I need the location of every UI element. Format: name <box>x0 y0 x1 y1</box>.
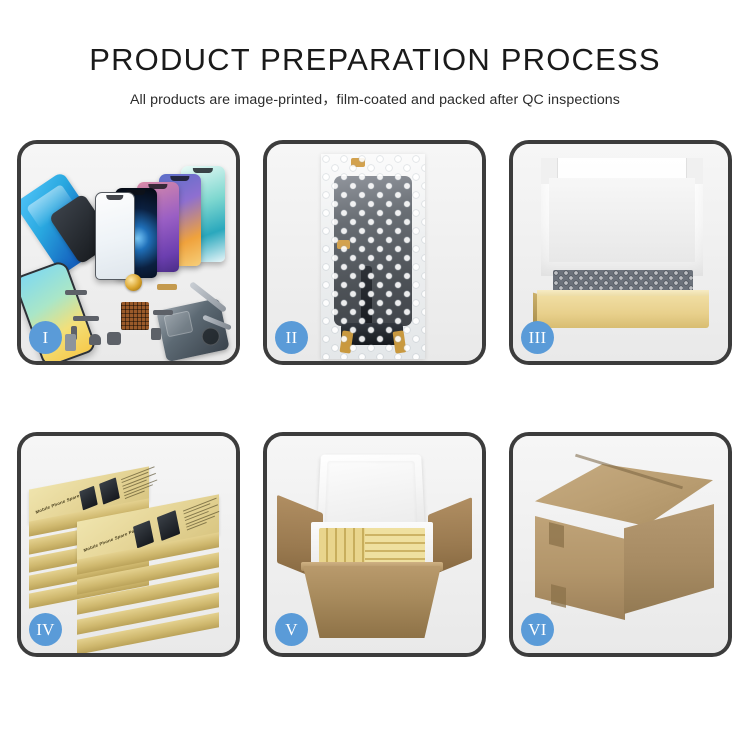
box-phone-image <box>133 520 154 548</box>
step-badge-6: VI <box>521 613 554 646</box>
packed-boxes-stacked-icon <box>365 528 425 566</box>
bubble-texture-icon <box>321 154 425 359</box>
sim-tray-icon <box>65 334 76 351</box>
step-badge-4: IV <box>29 613 62 646</box>
process-step-2: II <box>263 140 486 365</box>
camera-module-icon <box>107 332 121 345</box>
notch-icon <box>170 176 189 181</box>
camera-lens-icon <box>125 274 142 291</box>
step-badge-5: V <box>275 613 308 646</box>
process-step-1: I <box>17 140 240 365</box>
step-badge-2: II <box>275 321 308 354</box>
foam-lid-icon <box>317 455 425 533</box>
process-step-6: VI <box>509 432 732 657</box>
box-spec-lines <box>121 466 159 502</box>
connector-icon <box>65 290 87 295</box>
screen-protector-icon <box>95 192 135 280</box>
process-step-4: Mobile Phone Spare Parts <box>17 432 240 657</box>
notch-icon <box>106 195 123 200</box>
circuit-chip-icon <box>121 302 149 330</box>
box-phone-image <box>157 510 180 541</box>
process-step-grid: I II <box>17 140 733 657</box>
box-spec-lines <box>183 498 221 534</box>
box-phone-image <box>99 477 120 504</box>
phone-fan-group <box>95 166 235 281</box>
step-badge-1: I <box>29 321 62 354</box>
header: PRODUCT PREPARATION PROCESS All products… <box>0 0 750 109</box>
carton-tape-icon <box>551 584 566 608</box>
box-front-icon <box>537 296 709 328</box>
carton-tape-icon <box>549 522 564 548</box>
box-phone-image <box>79 486 98 511</box>
box-inner-liner-icon <box>549 178 695 262</box>
vibrator-icon <box>151 328 161 340</box>
bubble-wrap-bag-icon <box>321 154 425 359</box>
antenna-cable-icon <box>153 310 173 315</box>
page-subtitle: All products are image-printed，film-coat… <box>0 89 750 109</box>
notch-icon <box>193 168 213 173</box>
product-preparation-infographic: PRODUCT PREPARATION PROCESS All products… <box>0 0 750 750</box>
flex-cable-icon <box>157 284 177 290</box>
page-title: PRODUCT PREPARATION PROCESS <box>0 42 750 78</box>
step-badge-3: III <box>521 321 554 354</box>
ribbon-cable-icon <box>73 316 99 321</box>
process-step-5: V <box>263 432 486 657</box>
process-step-3: III <box>509 140 732 365</box>
carton-body-icon <box>303 566 441 638</box>
speaker-icon <box>89 334 101 345</box>
